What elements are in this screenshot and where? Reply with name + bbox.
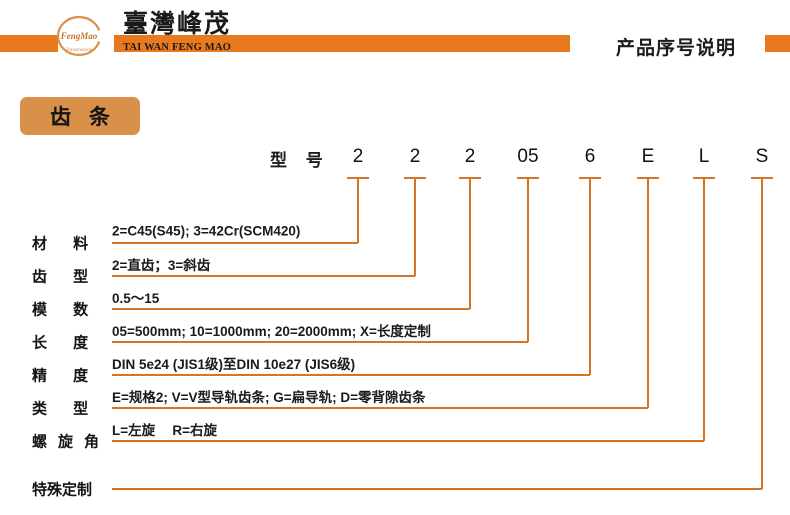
- model-code-char-2: 2: [410, 146, 421, 168]
- attribute-label-7: 螺旋角: [32, 431, 110, 452]
- connector-horizontal-4: [112, 341, 528, 343]
- connector-vertical-8: [761, 177, 763, 489]
- company-name-en: TAI WAN FENG MAO: [112, 41, 242, 55]
- connector-horizontal-1: [112, 242, 358, 244]
- attribute-label-8: 特殊定制: [32, 479, 92, 500]
- connector-horizontal-6: [112, 407, 648, 409]
- company-crest-icon: FengMao Transmission: [52, 10, 106, 62]
- section-title-badge: 齿 条: [20, 97, 140, 135]
- attribute-description-3: 0.5～15: [112, 287, 159, 307]
- connector-vertical-4: [527, 177, 529, 342]
- page-title: 产品序号说明: [616, 33, 736, 60]
- attribute-description-2: 2=直齿；3=斜齿: [112, 254, 210, 274]
- model-code-char-8: S: [756, 146, 769, 168]
- connector-vertical-5: [589, 177, 591, 375]
- page-header: FengMao Transmission 臺灣峰茂 TAI WAN FENG M…: [0, 0, 790, 78]
- connector-vertical-1: [357, 177, 359, 243]
- connector-vertical-7: [703, 177, 705, 441]
- attribute-label-1: 材 料: [32, 233, 99, 254]
- attribute-description-6: E=规格2; V=V型导轨齿条; G=扁导轨; D=零背隙齿条: [112, 386, 426, 406]
- connector-vertical-6: [647, 177, 649, 408]
- attribute-description-4: 05=500mm; 10=1000mm; 20=2000mm; X=长度定制: [112, 320, 431, 340]
- attribute-description-7: L=左旋 R=右旋: [112, 419, 217, 439]
- attribute-description-5: DIN 5e24 (JIS1级)至DIN 10e27 (JIS6级): [112, 353, 355, 373]
- section-title-label: 齿 条: [44, 101, 116, 131]
- model-code-char-7: L: [699, 146, 710, 168]
- model-code-char-3: 2: [465, 146, 476, 168]
- model-code-char-1: 2: [353, 146, 364, 168]
- connector-horizontal-2: [112, 275, 415, 277]
- attribute-label-4: 长 度: [32, 332, 99, 353]
- svg-text:Transmission: Transmission: [66, 48, 93, 53]
- connector-vertical-2: [414, 177, 416, 276]
- product-code-diagram-page: FengMao Transmission 臺灣峰茂 TAI WAN FENG M…: [0, 0, 790, 515]
- connector-horizontal-8: [112, 488, 762, 490]
- svg-text:FengMao: FengMao: [60, 31, 98, 41]
- attribute-label-3: 模 数: [32, 299, 99, 320]
- model-code-char-5: 6: [585, 146, 596, 168]
- connector-horizontal-7: [112, 440, 704, 442]
- company-logo-text: 臺灣峰茂 TAI WAN FENG MAO: [112, 9, 242, 55]
- connector-vertical-3: [469, 177, 471, 309]
- attribute-description-1: 2=C45(S45); 3=42Cr(SCM420): [112, 224, 300, 239]
- model-code-char-6: E: [642, 146, 655, 168]
- attribute-label-2: 齿 型: [32, 266, 99, 287]
- attribute-label-5: 精 度: [32, 365, 99, 386]
- connector-horizontal-3: [112, 308, 470, 310]
- company-name-cn: 臺灣峰茂: [112, 9, 242, 39]
- model-code-char-4: 05: [517, 146, 538, 168]
- attribute-label-6: 类 型: [32, 398, 99, 419]
- model-number-label: 型 号: [270, 146, 330, 171]
- header-bar-right-segment: [765, 35, 790, 52]
- header-bar-left-segment: [0, 35, 58, 52]
- connector-horizontal-5: [112, 374, 590, 376]
